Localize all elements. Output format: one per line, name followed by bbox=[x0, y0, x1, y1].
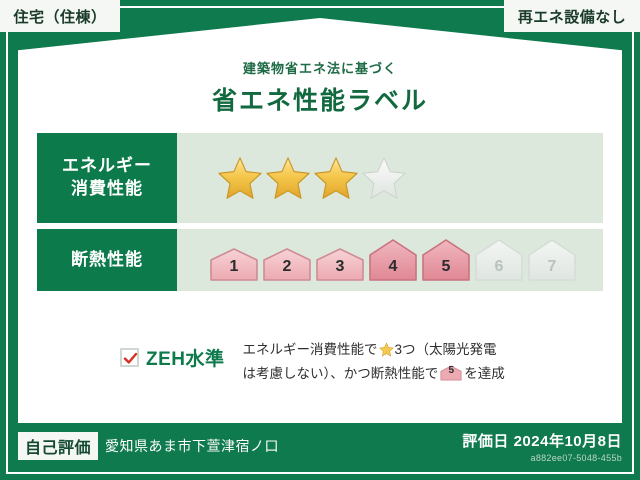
insulation-grade-value: 6 bbox=[474, 258, 524, 276]
energy-performance-label: 住宅（住棟） 再エネ設備なし 建築物省エネ法に基づく 省エネ性能ラベル エネルギ… bbox=[0, 0, 640, 480]
insulation-grade-value: 4 bbox=[368, 258, 418, 276]
inline-grade-badge: 5 bbox=[440, 365, 462, 381]
footer-right-group: 評価日 2024年10月8日 a882ee07-5048-455b bbox=[462, 426, 622, 463]
insulation-performance-label: 断熱性能 bbox=[37, 229, 177, 291]
insulation-grade-scale: 1 2 3 bbox=[209, 238, 577, 282]
insulation-performance-value: 1 2 3 bbox=[177, 229, 603, 291]
label-title: 省エネ性能ラベル bbox=[18, 81, 622, 117]
zeh-description-stars: 3つ（太陽光発電 bbox=[395, 342, 497, 357]
insulation-grade-value: 5 bbox=[421, 258, 471, 276]
star-filled-icon bbox=[217, 155, 263, 201]
insulation-grade-badge-2: 2 bbox=[262, 248, 312, 282]
star-filled-icon bbox=[313, 155, 359, 201]
property-address: 愛知県あま市下萱津宿ノ口 bbox=[105, 436, 279, 456]
evaluation-date: 評価日 2024年10月8日 bbox=[462, 430, 622, 451]
insulation-grade-badge-4: 4 bbox=[368, 238, 418, 282]
check-icon bbox=[123, 351, 138, 366]
energy-performance-row: エネルギー 消費性能 bbox=[37, 133, 603, 223]
label-footer: 自己評価 愛知県あま市下萱津宿ノ口 評価日 2024年10月8日 a882ee0… bbox=[18, 426, 622, 466]
zeh-description: エネルギー消費性能で3つ（太陽光発電は考慮しない）、かつ断熱性能で5を達成 bbox=[243, 338, 590, 385]
performance-rows: エネルギー 消費性能 bbox=[37, 133, 603, 291]
insulation-grade-value: 2 bbox=[262, 258, 312, 276]
insulation-grade-value: 3 bbox=[315, 258, 365, 276]
zeh-section: ZEH水準 エネルギー消費性能で3つ（太陽光発電は考慮しない）、かつ断熱性能で5… bbox=[120, 338, 590, 385]
insulation-grade-value: 1 bbox=[209, 258, 259, 276]
insulation-performance-label-line1: 断熱性能 bbox=[71, 249, 143, 272]
energy-performance-label: エネルギー 消費性能 bbox=[37, 133, 177, 223]
insulation-grade-badge-6: 6 bbox=[474, 238, 524, 282]
zeh-checkbox[interactable] bbox=[120, 348, 139, 367]
insulation-performance-row: 断熱性能 1 bbox=[37, 229, 603, 291]
insulation-grade-badge-7: 7 bbox=[527, 238, 577, 282]
star-rating bbox=[217, 155, 407, 201]
building-type-tag: 住宅（住棟） bbox=[0, 0, 120, 32]
zeh-description-part1: エネルギー消費性能で bbox=[243, 342, 378, 357]
inline-star-icon bbox=[379, 342, 394, 357]
label-title-block: 建築物省エネ法に基づく 省エネ性能ラベル bbox=[18, 58, 622, 117]
footer-left-group: 自己評価 愛知県あま市下萱津宿ノ口 bbox=[18, 426, 279, 460]
energy-performance-value bbox=[177, 133, 603, 223]
star-empty-icon bbox=[361, 155, 407, 201]
renewable-energy-tag-label: 再エネ設備なし bbox=[518, 6, 627, 27]
evaluation-type-badge: 自己評価 bbox=[18, 432, 98, 460]
star-filled-icon bbox=[265, 155, 311, 201]
label-subtitle: 建築物省エネ法に基づく bbox=[18, 58, 622, 77]
building-type-tag-label: 住宅（住棟） bbox=[13, 6, 106, 27]
evaluation-id: a882ee07-5048-455b bbox=[462, 453, 622, 463]
insulation-grade-badge-5: 5 bbox=[421, 238, 471, 282]
zeh-checkbox-group: ZEH水準 bbox=[120, 338, 225, 371]
zeh-description-part3: を達成 bbox=[464, 366, 505, 381]
zeh-description-part2: は考慮しない）、かつ断熱性能で bbox=[243, 366, 439, 381]
inline-grade-value: 5 bbox=[440, 362, 462, 380]
zeh-label: ZEH水準 bbox=[146, 344, 225, 371]
renewable-energy-tag: 再エネ設備なし bbox=[504, 0, 640, 32]
energy-performance-label-line2: 消費性能 bbox=[71, 178, 143, 201]
insulation-grade-badge-3: 3 bbox=[315, 248, 365, 282]
energy-performance-label-line1: エネルギー bbox=[62, 155, 152, 178]
insulation-grade-value: 7 bbox=[527, 258, 577, 276]
insulation-grade-badge-1: 1 bbox=[209, 248, 259, 282]
